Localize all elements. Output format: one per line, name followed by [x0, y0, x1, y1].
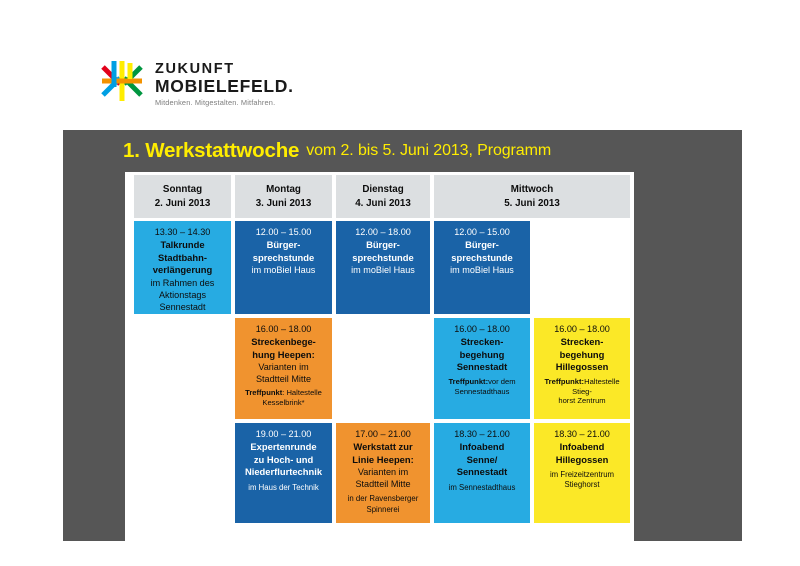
- event-title-line: sprechstunde: [239, 252, 328, 265]
- event-title-line: Senne/: [438, 454, 526, 467]
- day-date: 2. Juni 2013: [155, 197, 211, 211]
- day-header-dienstag: Dienstag4. Juni 2013: [336, 175, 430, 218]
- title-strong: 1. Werkstattwoche: [123, 139, 299, 163]
- schedule-event-cell[interactable]: 19.00 – 21.00Expertenrundezu Hoch- undNi…: [235, 423, 332, 523]
- event-title-line: Talkrunde: [138, 239, 227, 252]
- event-title-line: Stadtbahn-: [138, 252, 227, 265]
- brand-logo: ZUKUNFT MOBIELEFELD. Mitdenken. Mitgesta…: [98, 57, 294, 107]
- event-time: 12.00 – 15.00: [239, 226, 328, 238]
- event-subtitle-line: Stadtteil Mitte: [340, 478, 426, 490]
- event-subtitle-line: Varianten im: [239, 361, 328, 373]
- event-note-line: im Haus der Technik: [239, 483, 328, 493]
- schedule-event-cell[interactable]: 18.30 – 21.00InfoabendSenne/Sennestadtim…: [434, 423, 530, 523]
- event-subtitle-line: im moBiel Haus: [438, 264, 526, 276]
- event-title-line: Werkstatt zur: [340, 441, 426, 454]
- schedule-cell-empty: [134, 318, 231, 419]
- event-title-line: Streckenbege-: [239, 336, 328, 349]
- schedule-event-cell[interactable]: 17.00 – 21.00Werkstatt zurLinie Heepen:V…: [336, 423, 430, 523]
- event-title-line: sprechstunde: [438, 252, 526, 265]
- event-title-line: hung Heepen:: [239, 349, 328, 362]
- schedule-header-row: Sonntag2. Juni 2013Montag3. Juni 2013Die…: [134, 175, 626, 218]
- schedule-event-cell[interactable]: 16.00 – 18.00Streckenbege-hung Heepen:Va…: [235, 318, 332, 419]
- event-title-line: Bürger-: [340, 239, 426, 252]
- schedule-row: 13.30 – 14.30TalkrundeStadtbahn-verlänge…: [134, 221, 626, 314]
- slide-title: 1. Werkstattwoche vom 2. bis 5. Juni 201…: [63, 130, 742, 172]
- event-time: 16.00 – 18.00: [239, 323, 328, 335]
- day-header-sonntag: Sonntag2. Juni 2013: [134, 175, 231, 218]
- logo-line-2: MOBIELEFELD.: [155, 77, 294, 95]
- event-title-line: Infoabend: [538, 441, 626, 454]
- schedule-event-cell[interactable]: 12.00 – 15.00Bürger-sprechstundeim moBie…: [434, 221, 530, 314]
- event-note-line: im Freizeitzentrum: [538, 470, 626, 480]
- day-date: 5. Juni 2013: [504, 197, 560, 211]
- event-time: 18.30 – 21.00: [538, 428, 626, 440]
- event-title-line: Sennestadt: [438, 361, 526, 374]
- schedule-event-cell[interactable]: 16.00 – 18.00Strecken-begehungHillegosse…: [534, 318, 630, 419]
- day-date: 3. Juni 2013: [256, 197, 312, 211]
- event-title-line: sprechstunde: [340, 252, 426, 265]
- event-subtitle-line: im moBiel Haus: [239, 264, 328, 276]
- event-title-line: Strecken-: [538, 336, 626, 349]
- event-title-line: Strecken-: [438, 336, 526, 349]
- event-title-line: begehung: [438, 349, 526, 362]
- event-time: 16.00 – 18.00: [538, 323, 626, 335]
- day-header-montag: Montag3. Juni 2013: [235, 175, 332, 218]
- event-subtitle-line: Stadtteil Mitte: [239, 373, 328, 385]
- meeting-point-label: Treffpunkt:: [448, 377, 488, 386]
- meeting-point-label: Treffpunkt:: [544, 377, 584, 386]
- event-note-line: im Sennestadthaus: [438, 483, 526, 493]
- event-note-line: in der Ravensberger: [340, 494, 426, 504]
- event-time: 19.00 – 21.00: [239, 428, 328, 440]
- event-time: 17.00 – 21.00: [340, 428, 426, 440]
- schedule-event-cell[interactable]: 12.00 – 18.00Bürger-sprechstundeim moBie…: [336, 221, 430, 314]
- slide-page: ZUKUNFT MOBIELEFELD. Mitdenken. Mitgesta…: [0, 0, 800, 566]
- event-meeting-point: Treffpunkt:Haltestelle Stieg-horst Zentr…: [538, 377, 626, 407]
- zukunft-mobielefeld-star-icon: [98, 57, 146, 105]
- schedule-row: 16.00 – 18.00Streckenbege-hung Heepen:Va…: [134, 318, 626, 419]
- event-time: 16.00 – 18.00: [438, 323, 526, 335]
- event-subtitle-line: Aktionstags: [138, 289, 227, 301]
- schedule-event-cell[interactable]: 16.00 – 18.00Strecken-begehungSennestadt…: [434, 318, 530, 419]
- schedule-grid: Sonntag2. Juni 2013Montag3. Juni 2013Die…: [134, 175, 626, 527]
- event-title-line: Hillegossen: [538, 361, 626, 374]
- event-title-line: verlängerung: [138, 264, 227, 277]
- schedule-event-cell[interactable]: 13.30 – 14.30TalkrundeStadtbahn-verlänge…: [134, 221, 231, 314]
- day-name: Mittwoch: [511, 183, 553, 197]
- event-meeting-point: Treffpunkt: HaltestelleKesselbrink*: [239, 388, 328, 408]
- meeting-point-label: Treffpunkt: [245, 388, 282, 397]
- day-date: 4. Juni 2013: [355, 197, 411, 211]
- logo-tagline: Mitdenken. Mitgestalten. Mitfahren.: [155, 98, 294, 107]
- schedule-row: 19.00 – 21.00Expertenrundezu Hoch- undNi…: [134, 423, 626, 523]
- event-title-line: Bürger-: [239, 239, 328, 252]
- schedule-cell-empty: [336, 318, 430, 419]
- title-rest: vom 2. bis 5. Juni 2013, Programm: [306, 142, 551, 160]
- day-header-mittwoch: Mittwoch5. Juni 2013: [434, 175, 630, 218]
- day-name: Montag: [266, 183, 301, 197]
- event-meeting-point: Treffpunkt:vor demSennestadthaus: [438, 377, 526, 397]
- event-subtitle-line: Varianten im: [340, 466, 426, 478]
- event-time: 12.00 – 18.00: [340, 226, 426, 238]
- event-time: 12.00 – 15.00: [438, 226, 526, 238]
- schedule-panel: Sonntag2. Juni 2013Montag3. Juni 2013Die…: [125, 172, 634, 541]
- schedule-event-cell[interactable]: 12.00 – 15.00Bürger-sprechstundeim moBie…: [235, 221, 332, 314]
- event-subtitle-line: Sennestadt: [138, 301, 227, 313]
- schedule-cell-empty: [134, 423, 231, 523]
- logo-line-1: ZUKUNFT: [155, 62, 294, 77]
- event-title-line: Linie Heepen:: [340, 454, 426, 467]
- event-time: 18.30 – 21.00: [438, 428, 526, 440]
- event-title-line: Niederflurtechnik: [239, 466, 328, 479]
- event-title-line: Expertenrunde: [239, 441, 328, 454]
- event-subtitle-line: im moBiel Haus: [340, 264, 426, 276]
- event-title-line: zu Hoch- und: [239, 454, 328, 467]
- day-name: Sonntag: [163, 183, 202, 197]
- event-title-line: Sennestadt: [438, 466, 526, 479]
- event-note-line: Stieghorst: [538, 480, 626, 490]
- content-frame: 1. Werkstattwoche vom 2. bis 5. Juni 201…: [63, 130, 742, 541]
- event-time: 13.30 – 14.30: [138, 226, 227, 238]
- day-name: Dienstag: [362, 183, 403, 197]
- event-note-line: Spinnerei: [340, 505, 426, 515]
- schedule-cell-empty: [534, 221, 630, 314]
- event-title-line: Hillegossen: [538, 454, 626, 467]
- event-title-line: Bürger-: [438, 239, 526, 252]
- event-title-line: Infoabend: [438, 441, 526, 454]
- event-subtitle-line: im Rahmen des: [138, 277, 227, 289]
- schedule-event-cell[interactable]: 18.30 – 21.00InfoabendHillegossenim Frei…: [534, 423, 630, 523]
- event-title-line: begehung: [538, 349, 626, 362]
